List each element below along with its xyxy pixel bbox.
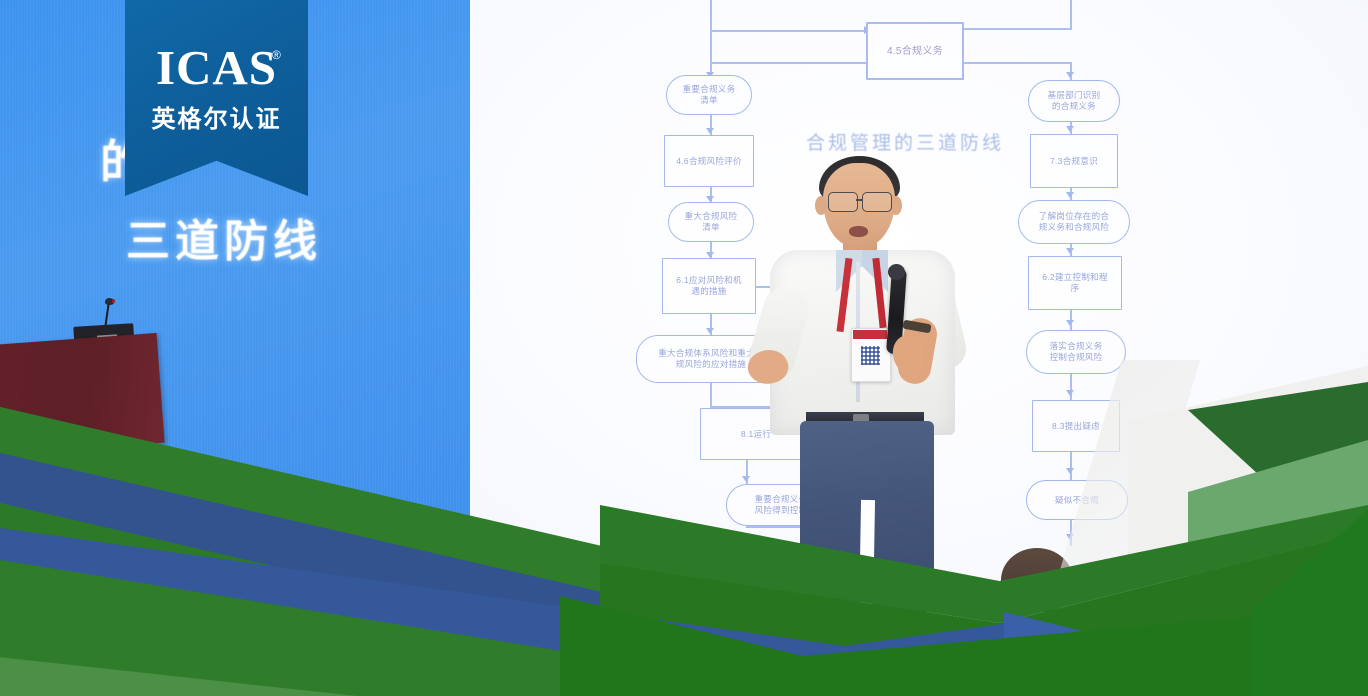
flow-arrow bbox=[1066, 468, 1074, 474]
flow-arrow bbox=[1066, 126, 1074, 132]
flow-arrow bbox=[706, 128, 714, 134]
flow-node: 4.5合规义务 bbox=[866, 22, 964, 80]
lectern-microphone-indicator bbox=[112, 299, 115, 303]
eyeglasses-right-lens bbox=[862, 192, 892, 212]
speaker-mouth bbox=[849, 226, 868, 237]
flow-arrow bbox=[742, 476, 750, 482]
flow-arrow bbox=[1066, 72, 1074, 78]
screenshot-stage: 4.5合规义务重要合规义务清单4.6合规风险评价重大合规风险清单6.1应对风险和… bbox=[0, 0, 1368, 696]
flow-arrow bbox=[1066, 320, 1074, 326]
icas-chinese-name: 英格尔认证 bbox=[125, 99, 308, 134]
flow-connector bbox=[710, 30, 870, 32]
flow-connector bbox=[1070, 374, 1072, 400]
flow-arrow bbox=[1066, 390, 1074, 396]
flow-node: 6.2建立控制和程序 bbox=[1028, 256, 1122, 310]
flow-connector bbox=[1070, 452, 1072, 480]
flow-arrow bbox=[1066, 192, 1074, 198]
flow-node: 基层部门识别的合规义务 bbox=[1028, 80, 1120, 122]
flow-node: 落实合规义务控制合规风险 bbox=[1026, 330, 1126, 374]
registered-trademark-icon: ® bbox=[272, 48, 281, 62]
flow-connector bbox=[710, 0, 712, 32]
wall-headline-line2: 三道防线 bbox=[126, 205, 322, 269]
flow-connector bbox=[710, 62, 870, 64]
slide-title: 合规管理的三道防线 bbox=[806, 128, 1004, 155]
flow-node: 重要合规义务清单 bbox=[666, 75, 752, 115]
speaker-left-ear bbox=[815, 196, 827, 215]
flow-node: 4.6合规风险评价 bbox=[664, 135, 754, 187]
flow-node: 6.1应对风险和机遇的措施 bbox=[662, 258, 756, 314]
flow-connector bbox=[954, 28, 1072, 30]
name-badge-header bbox=[853, 330, 887, 339]
flow-node: 重大合规风险清单 bbox=[668, 202, 754, 242]
flow-connector bbox=[954, 62, 1072, 64]
eyeglasses-bridge bbox=[856, 199, 863, 201]
flow-connector bbox=[710, 383, 712, 408]
qr-code-icon bbox=[861, 346, 880, 365]
flow-node: 7.3合规意识 bbox=[1030, 134, 1118, 188]
eyeglasses-left-lens bbox=[828, 192, 858, 212]
flow-node: 了解岗位存在的合规义务和合规风险 bbox=[1018, 200, 1130, 244]
flow-connector bbox=[1070, 0, 1072, 28]
flow-arrow bbox=[1066, 248, 1074, 254]
flow-arrow bbox=[706, 328, 714, 334]
